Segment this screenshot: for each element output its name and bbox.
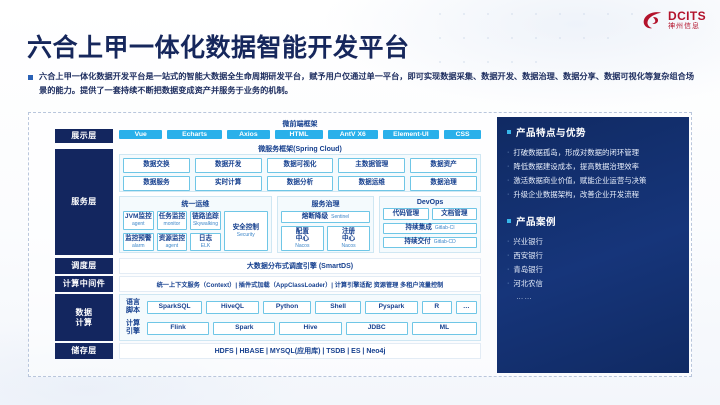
- platform-support-row: 统一运维 JVM监控 agent 任务监控 monitor: [119, 196, 481, 253]
- layer-label-compute: 数据 计算: [55, 294, 113, 341]
- cases-title-row: 产品案例: [507, 214, 679, 228]
- language-chip-more[interactable]: …: [456, 301, 477, 314]
- circuit-breaker-cell[interactable]: 熔断降级 Sentinel: [281, 211, 370, 223]
- ops-cell-cn: 链路追踪: [192, 213, 218, 221]
- ops-cell-en: ELK: [201, 243, 210, 249]
- advantages-title: 产品特点与优势: [516, 125, 586, 139]
- schedule-engine-strip: 大数据分布式调度引擎 (SmartDS): [119, 258, 481, 274]
- ci-en: Gitlab-CI: [435, 225, 455, 231]
- tech-chip[interactable]: HTML: [275, 130, 323, 139]
- ops-cell-en: agent: [166, 243, 179, 249]
- service-module[interactable]: 实时计算: [195, 176, 262, 191]
- tech-chip[interactable]: CSS: [444, 130, 481, 139]
- page-intro-text: 六合上甲一体化数据开发平台是一站式的智能大数据全生命周期研发平台，赋予用户仅通过…: [39, 70, 698, 99]
- engine-chip[interactable]: JDBC: [346, 322, 408, 335]
- brand-name-en: DCITS: [668, 10, 706, 22]
- list-item: ·兴业银行: [507, 235, 679, 249]
- language-script-row: 语言 脚本 SparkSQL HiveQL Python Shell Pyspa…: [123, 298, 477, 316]
- list-item: ·升级企业数据架构，改善企业开发流程: [507, 188, 679, 202]
- list-item: ·青岛银行: [507, 263, 679, 277]
- dot-icon: ·: [507, 249, 509, 262]
- layer-label-storage: 储存层: [55, 343, 113, 359]
- ops-cell-en: monitor: [164, 221, 181, 227]
- presentation-chip-row: Vue Echarts Axios HTML AntV X6 Element-U…: [119, 130, 481, 139]
- cases-more: ……: [507, 292, 679, 301]
- layer-label-schedule: 调度层: [55, 258, 113, 274]
- compute-engine-row: 计算 引擎 Flink Spark Hive JDBC ML: [123, 319, 477, 337]
- ops-cell[interactable]: 资源监控 agent: [157, 233, 188, 252]
- service-module[interactable]: 数据资产: [410, 158, 477, 173]
- ops-cell-cn: 监控预警: [125, 235, 151, 243]
- service-module[interactable]: 数据运维: [338, 176, 405, 191]
- ops-cell-cn: 资源监控: [159, 235, 185, 243]
- service-module[interactable]: 数据治理: [410, 176, 477, 191]
- engine-chip[interactable]: Spark: [213, 322, 275, 335]
- compute-panel: 语言 脚本 SparkSQL HiveQL Python Shell Pyspa…: [119, 294, 481, 341]
- continuous-integration-cell[interactable]: 持续集成 Gitlab-CI: [383, 223, 477, 234]
- architecture-diagram: 展示层 服务层 调度层 计算中间件 数据 计算 储存层 微前端框架 Vue Ec…: [33, 117, 491, 373]
- list-item: ·西安银行: [507, 249, 679, 263]
- ops-cell-en: agent: [132, 221, 145, 227]
- unified-ops-panel: 统一运维 JVM监控 agent 任务监控 monitor: [119, 196, 272, 253]
- architecture-card: 展示层 服务层 调度层 计算中间件 数据 计算 储存层 微前端框架 Vue Ec…: [28, 112, 692, 377]
- circuit-breaker-en: Sentinel: [331, 214, 349, 220]
- dot-icon: ·: [507, 263, 509, 276]
- service-governance-panel: 服务治理 熔断降级 Sentinel 配置 中心 Nacos 注册 中心 Nac…: [277, 196, 374, 253]
- list-item: ·激活数据商业价值，赋能企业运营与决策: [507, 174, 679, 188]
- tech-chip[interactable]: Element-UI: [383, 130, 439, 139]
- ops-cell-en: Skywalking: [193, 221, 218, 227]
- engine-chip[interactable]: ML: [412, 322, 477, 335]
- service-module[interactable]: 数据分析: [267, 176, 334, 191]
- ci-cn: 持续集成: [406, 224, 432, 232]
- micro-frontend-caption: 微前端框架: [119, 119, 481, 129]
- language-chip[interactable]: SparkSQL: [147, 301, 202, 314]
- language-chip[interactable]: Python: [263, 301, 311, 314]
- info-sidebar: 产品特点与优势 ·打破数据孤岛，形成对数据的闭环管理 ·降低数据建设成本，提高数…: [497, 117, 689, 373]
- dot-icon: ·: [507, 174, 509, 187]
- layer-label-service: 服务层: [55, 149, 113, 255]
- storage-strip: HDFS | HBASE | MYSQL(应用库) | TSDB | ES | …: [119, 343, 481, 359]
- brand-logo: DCITS 神州信息: [642, 10, 706, 30]
- section-bullet-icon: [507, 219, 511, 223]
- language-chip[interactable]: Pyspark: [365, 301, 418, 314]
- tech-chip[interactable]: Vue: [119, 130, 162, 139]
- security-control-cn: 安全控制: [233, 224, 259, 232]
- service-governance-title: 服务治理: [281, 199, 370, 209]
- cd-cn: 持续交付: [404, 238, 430, 246]
- registry-center-en: Nacos: [341, 243, 355, 249]
- ops-cell-cn: 日志: [199, 235, 212, 243]
- advantage-text: 打破数据孤岛，形成对数据的闭环管理: [513, 146, 639, 160]
- case-text: 兴业银行: [513, 235, 543, 249]
- case-text: 青岛银行: [513, 263, 543, 277]
- dot-icon: ·: [507, 160, 509, 173]
- language-chip[interactable]: R: [422, 301, 452, 314]
- dot-icon: ·: [507, 188, 509, 201]
- security-control-cell[interactable]: 安全控制 Security: [224, 211, 268, 251]
- dot-icon: ·: [507, 146, 509, 159]
- cases-list: ·兴业银行 ·西安银行 ·青岛银行 ·河北农信: [507, 235, 679, 291]
- language-chip[interactable]: Shell: [315, 301, 361, 314]
- layer-label-compute-text: 数据 计算: [76, 308, 93, 328]
- ops-cell-cn: JVM监控: [125, 213, 152, 221]
- advantage-text: 降低数据建设成本，提高数据治理效率: [513, 160, 639, 174]
- language-script-label: 语言 脚本: [123, 299, 143, 315]
- service-module[interactable]: 主数据管理: [338, 158, 405, 173]
- continuous-delivery-cell[interactable]: 持续交付 Gitlab-CD: [383, 237, 477, 248]
- ops-cell-en: alarm: [132, 243, 145, 249]
- engine-chip[interactable]: Hive: [279, 322, 341, 335]
- list-item: ·降低数据建设成本，提高数据治理效率: [507, 160, 679, 174]
- devops-panel: DevOps 代码管理 文档管理 持续集成 Gitlab-CI 持续交付 Git…: [379, 196, 481, 253]
- config-center-en: Nacos: [295, 243, 309, 249]
- advantages-title-row: 产品特点与优势: [507, 125, 679, 139]
- dot-icon: ·: [507, 235, 509, 248]
- devops-cell[interactable]: 文档管理: [432, 208, 477, 220]
- ops-cell-cn: 任务监控: [159, 213, 185, 221]
- engine-chip[interactable]: Flink: [147, 322, 209, 335]
- dot-icon: ·: [507, 277, 509, 290]
- advantage-text: 升级企业数据架构，改善企业开发流程: [513, 188, 639, 202]
- registry-center-cn: 注册 中心: [342, 228, 355, 243]
- ops-cell[interactable]: 日志 ELK: [190, 233, 221, 252]
- case-text: 河北农信: [513, 277, 543, 291]
- advantage-text: 激活数据商业价值，赋能企业运营与决策: [513, 174, 646, 188]
- security-control-en: Security: [237, 232, 255, 238]
- ops-cell[interactable]: 监控预警 alarm: [123, 233, 154, 252]
- service-module-row-2: 数据服务 实时计算 数据分析 数据运维 数据治理: [123, 176, 477, 191]
- service-module[interactable]: 数据可视化: [267, 158, 334, 173]
- registry-center-cell[interactable]: 注册 中心 Nacos: [327, 226, 370, 251]
- advantages-list: ·打破数据孤岛，形成对数据的闭环管理 ·降低数据建设成本，提高数据治理效率 ·激…: [507, 146, 679, 202]
- circuit-breaker-cn: 熔断降级: [302, 213, 328, 221]
- tech-chip[interactable]: AntV X6: [328, 130, 378, 139]
- compute-engine-label: 计算 引擎: [123, 320, 143, 336]
- config-center-cell[interactable]: 配置 中心 Nacos: [281, 226, 324, 251]
- config-center-cn: 配置 中心: [296, 228, 309, 243]
- service-module-row-1: 数据交换 数据开发 数据可视化 主数据管理 数据资产: [123, 158, 477, 173]
- micro-service-caption: 微服务框架(Spring Cloud): [119, 144, 481, 154]
- list-item: ·河北农信: [507, 277, 679, 291]
- bullet-square-icon: [28, 75, 33, 80]
- page-intro: 六合上甲一体化数据开发平台是一站式的智能大数据全生命周期研发平台，赋予用户仅通过…: [28, 70, 698, 99]
- cd-en: Gitlab-CD: [434, 239, 456, 245]
- layer-label-middleware: 计算中间件: [55, 276, 113, 292]
- tech-chip[interactable]: Echarts: [167, 130, 221, 139]
- devops-title: DevOps: [383, 199, 477, 206]
- unified-ops-title: 统一运维: [123, 199, 268, 209]
- layer-label-presentation: 展示层: [55, 129, 113, 143]
- service-modules-panel: 数据交换 数据开发 数据可视化 主数据管理 数据资产 数据服务 实时计算 数据分…: [119, 154, 481, 192]
- ops-cell[interactable]: JVM监控 agent: [123, 211, 154, 230]
- section-bullet-icon: [507, 130, 511, 134]
- dcits-swirl-icon: [642, 10, 664, 30]
- middleware-strip: 统一上下文服务（Context）| 插件式加载（AppClassLoader）|…: [119, 276, 481, 292]
- brand-name-cn: 神州信息: [668, 23, 706, 30]
- ops-cell[interactable]: 任务监控 monitor: [157, 211, 188, 230]
- service-module[interactable]: 数据服务: [123, 176, 190, 191]
- language-chip[interactable]: HiveQL: [206, 301, 259, 314]
- devops-cell[interactable]: 代码管理: [383, 208, 428, 220]
- list-item: ·打破数据孤岛，形成对数据的闭环管理: [507, 146, 679, 160]
- page-title: 六合上甲一体化数据智能开发平台: [27, 28, 410, 64]
- service-module[interactable]: 数据交换: [123, 158, 190, 173]
- cases-title: 产品案例: [516, 214, 556, 228]
- service-module[interactable]: 数据开发: [195, 158, 262, 173]
- cases-block: 产品案例 ·兴业银行 ·西安银行 ·青岛银行 ·河北农信 ……: [507, 214, 679, 300]
- case-text: 西安银行: [513, 249, 543, 263]
- ops-cell[interactable]: 链路追踪 Skywalking: [190, 211, 221, 230]
- tech-chip[interactable]: Axios: [227, 130, 270, 139]
